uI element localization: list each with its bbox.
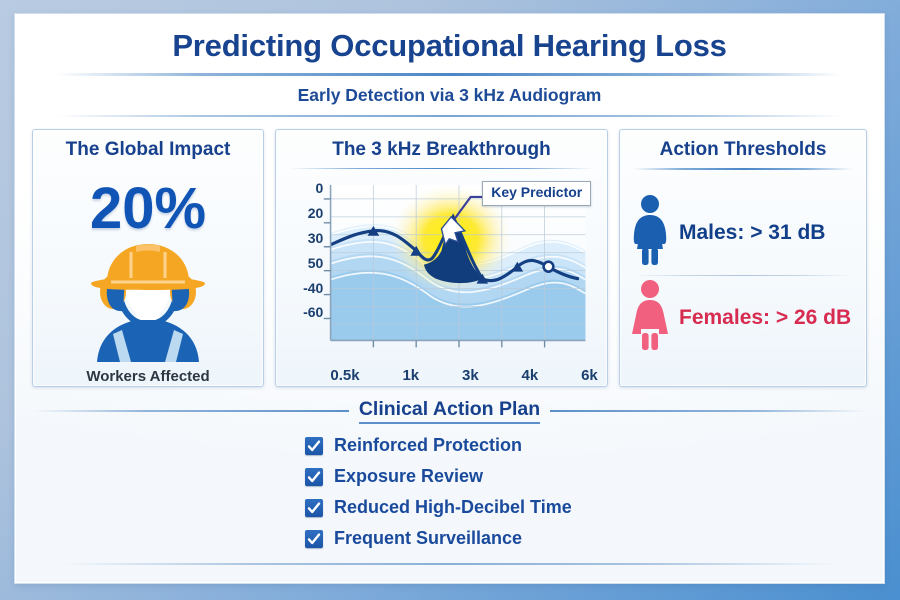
y-tick: 20 [308,205,324,221]
plan-title: Clinical Action Plan [359,398,540,424]
panel-action-thresholds-title: Action Thresholds [620,130,866,161]
title-divider [57,73,842,76]
key-predictor-callout: Key Predictor [482,181,591,206]
x-tick: 1k [402,367,419,384]
y-axis-tick-labels: 0 20 30 50 -40 -60 [280,180,323,320]
global-impact-caption: Workers Affected [33,367,263,387]
worker-illustration-wrap [33,238,263,367]
plan-item[interactable]: Reinforced Protection [305,435,522,456]
page-title: Predicting Occupational Hearing Loss [31,28,868,64]
plan-item[interactable]: Exposure Review [305,466,483,487]
female-figure-icon [630,279,670,356]
panel-audiogram-title: The 3 kHz Breakthrough [276,130,607,161]
plan-footer-rule [63,563,836,565]
x-tick: 0.5k [330,367,359,384]
plan-heading-row: Clinical Action Plan [33,398,866,424]
audiogram-chart: Key Predictor 0 20 30 50 -40 -60 [280,173,601,382]
poster-sheet: Predicting Occupational Hearing Loss Ear… [15,14,884,583]
plan-item-label: Reduced High-Decibel Time [334,497,572,518]
plan-rule-left [33,410,349,412]
panel-title-divider [290,168,593,169]
panel-global-impact-title: The Global Impact [33,130,263,161]
panel-action-thresholds: Action Thresholds [619,129,867,387]
infographic-poster: Predicting Occupational Hearing Loss Ear… [0,0,900,600]
subtitle-divider [57,115,842,117]
check-icon[interactable] [305,437,323,455]
y-tick: -40 [303,280,323,296]
female-threshold-label: Females: > 26 dB [679,306,851,330]
x-tick: 3k [462,367,479,384]
check-icon[interactable] [305,468,323,486]
panel-row: The Global Impact 20% [32,129,867,387]
threshold-list: Males: > 31 dB [620,170,866,386]
poster-inner-frame: Predicting Occupational Hearing Loss Ear… [14,13,885,584]
clinical-action-plan: Clinical Action Plan Reinforced Protecti… [33,398,866,565]
threshold-row-females: Females: > 26 dB [630,276,856,360]
plan-item-list: Reinforced Protection Exposure Review Re… [33,435,866,549]
global-impact-stat: 20% [33,180,263,238]
plan-item-label: Reinforced Protection [334,435,522,456]
check-icon[interactable] [305,530,323,548]
y-tick: -60 [303,304,323,320]
page-subtitle: Early Detection via 3 kHz Audiogram [31,85,868,106]
panel-audiogram: The 3 kHz Breakthrough [275,129,608,387]
plan-item-label: Frequent Surveillance [334,528,522,549]
male-figure-icon [630,194,670,271]
threshold-row-males: Males: > 31 dB [630,191,856,275]
key-predictor-label: Key Predictor [491,184,582,200]
check-icon[interactable] [305,499,323,517]
plan-rule-right [550,410,866,412]
y-tick: 30 [308,230,324,246]
panel-global-impact: The Global Impact 20% [32,129,264,387]
x-axis-tick-labels: 0.5k 1k 3k 4k 6k [330,367,597,384]
plan-item-label: Exposure Review [334,466,483,487]
plan-item[interactable]: Frequent Surveillance [305,528,522,549]
y-tick: 50 [308,255,324,271]
y-tick: 0 [316,180,324,196]
x-tick: 4k [522,367,539,384]
male-threshold-label: Males: > 31 dB [679,221,825,245]
construction-worker-icon [73,238,223,367]
x-tick: 6k [581,367,598,384]
plan-item[interactable]: Reduced High-Decibel Time [305,497,572,518]
